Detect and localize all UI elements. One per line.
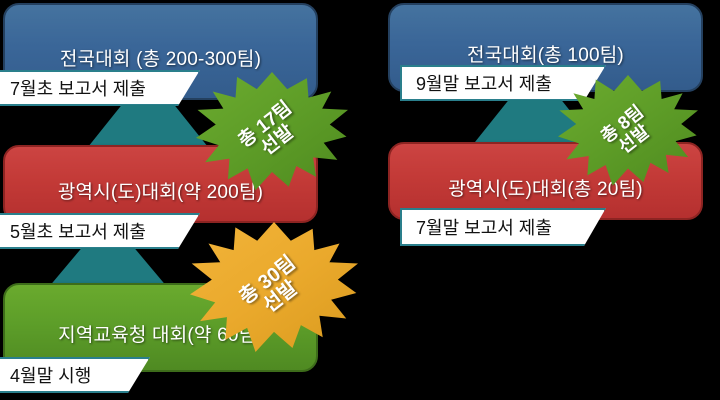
milestone-label: 7월초 보고서 제출 [10, 75, 146, 101]
diagram-canvas: 전국대회 (총 200-300팀) 7월초 보고서 제출 광역시(도)대회(약 … [0, 0, 720, 400]
milestone-label: 7월말 보고서 제출 [416, 214, 552, 240]
stage-label: 전국대회 (총 200-300팀) [60, 44, 261, 71]
flow-connector-left-upper [88, 105, 208, 147]
milestone-label: 5월초 보고서 제출 [10, 218, 146, 244]
milestone-banner-july-early: 7월초 보고서 제출 [0, 70, 200, 106]
selection-burst-8-teams: 총 8팀 선발 [558, 75, 698, 189]
milestone-banner-july-late: 7월말 보고서 제출 [400, 208, 606, 246]
selection-burst-17-teams: 총 17팀 선발 [196, 72, 348, 194]
milestone-banner-april-late: 4월말 시행 [0, 357, 150, 393]
milestone-banner-may-early: 5월초 보고서 제출 [0, 213, 200, 249]
stage-label: 전국대회(총 100팀) [467, 40, 624, 67]
milestone-label: 9월말 보고서 제출 [416, 70, 552, 96]
flow-connector-left-lower [48, 248, 168, 288]
selection-burst-30-teams: 총 30팀 선발 [190, 222, 358, 356]
milestone-label: 4월말 시행 [10, 362, 91, 388]
